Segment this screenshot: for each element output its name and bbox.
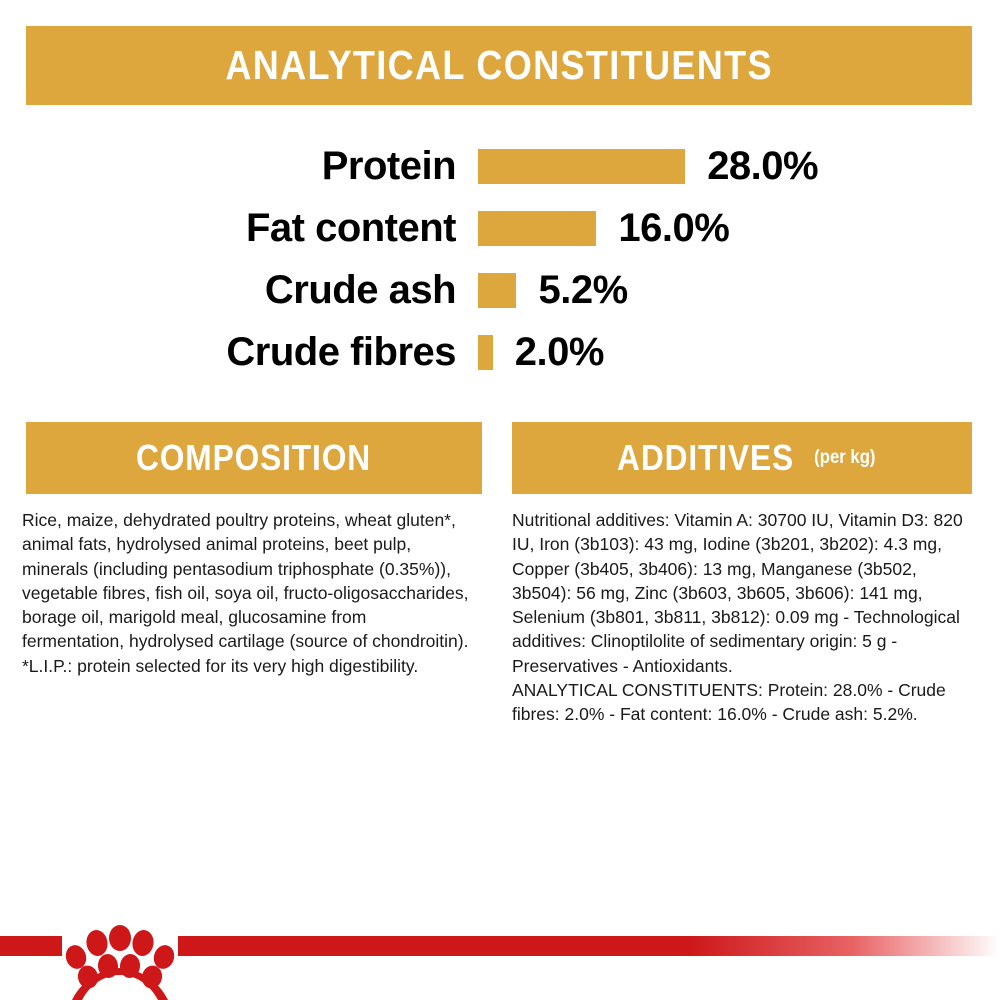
chart-category-label: Crude fibres	[0, 330, 478, 375]
chart-category-label: Crude ash	[0, 268, 478, 313]
chart-category-label: Fat content	[0, 206, 478, 251]
chart-bar	[478, 149, 685, 184]
footer	[0, 936, 1000, 1000]
additives-analytical-constituents: ANALYTICAL CONSTITUENTS: Protein: 28.0% …	[512, 678, 964, 727]
chart-value-label: 16.0%	[618, 206, 729, 251]
chart-value-label: 28.0%	[707, 144, 818, 189]
chart-row: Fat content 16.0%	[0, 197, 1000, 259]
composition-heading: COMPOSITION	[137, 437, 372, 479]
section-headers: COMPOSITION ADDITIVES (per kg)	[0, 422, 1000, 494]
analytical-constituents-banner: ANALYTICAL CONSTITUENTS	[26, 26, 972, 105]
chart-bar-group: 5.2%	[478, 268, 628, 313]
footer-band-right	[178, 936, 1000, 956]
section-header-row: COMPOSITION ADDITIVES (per kg)	[0, 422, 1000, 494]
page-title: ANALYTICAL CONSTITUENTS	[225, 42, 773, 89]
additives-heading: ADDITIVES	[617, 437, 794, 479]
chart-row: Crude ash 5.2%	[0, 259, 1000, 321]
chart-bar-group: 2.0%	[478, 330, 604, 375]
chart-value-label: 5.2%	[538, 268, 627, 313]
chart-value-label: 2.0%	[515, 330, 604, 375]
footer-band-left	[0, 936, 62, 956]
chart-bar-group: 28.0%	[478, 144, 818, 189]
chart-bar	[478, 211, 596, 246]
additives-body: Nutritional additives: Vitamin A: 30700 …	[512, 508, 964, 727]
composition-header-box: COMPOSITION	[26, 422, 482, 494]
analytical-constituents-chart: Protein 28.0% Fat content 16.0% Crude as…	[0, 135, 1000, 383]
royal-canin-crown-icon	[62, 916, 178, 1000]
additives-nutritional: Nutritional additives: Vitamin A: 30700 …	[512, 508, 964, 678]
additives-header-box: ADDITIVES (per kg)	[512, 422, 972, 494]
composition-ingredients: Rice, maize, dehydrated poultry proteins…	[22, 508, 470, 654]
chart-row: Crude fibres 2.0%	[0, 321, 1000, 383]
chart-bar	[478, 335, 493, 370]
additives-heading-suffix: (per kg)	[814, 447, 875, 469]
composition-body: Rice, maize, dehydrated poultry proteins…	[22, 508, 470, 678]
chart-row: Protein 28.0%	[0, 135, 1000, 197]
chart-bar-group: 16.0%	[478, 206, 729, 251]
chart-bar	[478, 273, 516, 308]
chart-category-label: Protein	[0, 144, 478, 189]
composition-footnote: *L.I.P.: protein selected for its very h…	[22, 654, 470, 678]
